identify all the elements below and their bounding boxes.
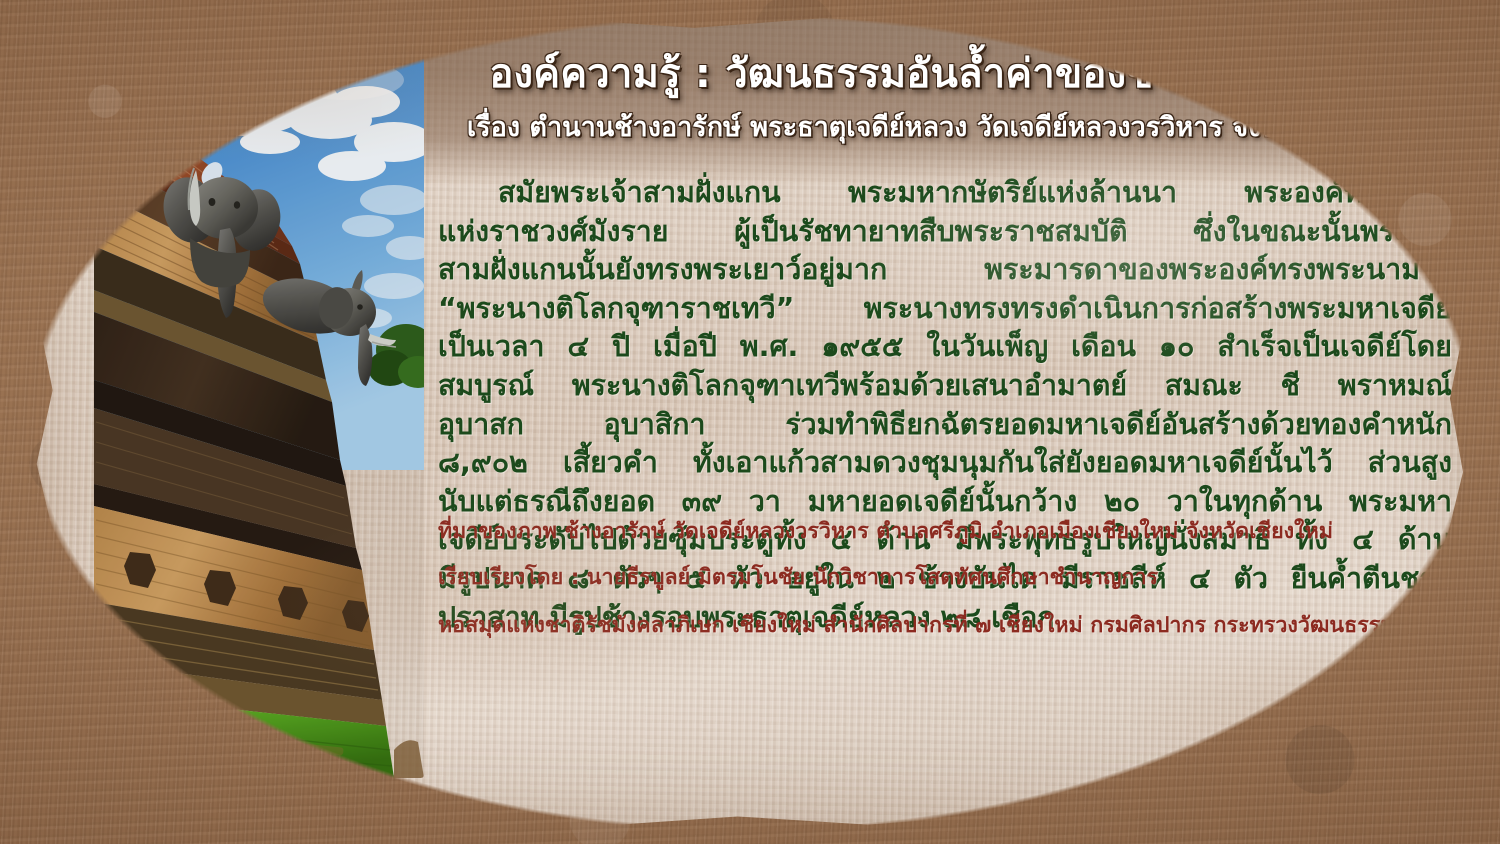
article-footer: ที่มาของภาพ ช้างอารักษ์ วัดเจดีย์หลวงวรว… <box>438 519 1452 638</box>
photo-frame <box>94 50 424 778</box>
compiled-by-credit: เรียบเรียงโดย : นายธีรบูลย์ มิตรมโนชัย น… <box>438 565 1452 591</box>
body-line: นับแต่ธรณีถึงยอด ๓๙ วา มหายอดเจดีย์นั้นก… <box>438 483 1452 522</box>
page-title: องค์ความรู้ : วัฒนธรรมอันล้ำค่าของชาวล้า… <box>432 52 1452 97</box>
body-line: “พระนางติโลกจุฑาราชเทวี” พระนางทรงทรงดำเ… <box>438 290 1452 329</box>
photo-source-credit: ที่มาของภาพ ช้างอารักษ์ วัดเจดีย์หลวงวรว… <box>438 519 1452 545</box>
body-line: อุบาสก อุบาสิกา ร่วมทำพิธียกฉัตรยอดมหาเจ… <box>438 406 1452 445</box>
body-line: ๘,๙๐๒ เสี้ยวคำ ทั้งเอาแก้วสามดวงชุมนุมกั… <box>438 444 1452 483</box>
poster-root: องค์ความรู้ : วัฒนธรรมอันล้ำค่าของชาวล้า… <box>0 0 1500 844</box>
body-line: แห่งราชวงศ์มังราย ผู้เป็นรัชทายาทสืบพระร… <box>438 213 1452 252</box>
photo-illustration <box>94 50 424 778</box>
page-subtitle: เรื่อง ตำนานช้างอารักษ์ พระธาตุเจดีย์หลว… <box>432 112 1452 143</box>
organization-credit: หอสมุดแห่งชาติรัชมังคลาภิเษก เชียงใหม่ ส… <box>438 613 1452 639</box>
body-line: สามฝั่งแกนนั้นยังทรงพระเยาว์อยู่มาก พระม… <box>438 251 1452 290</box>
body-line: เป็นเวลา ๔ ปี เมื่อปี พ.ศ. ๑๙๕๕ ในวันเพ็… <box>438 328 1452 367</box>
body-line: สมัยพระเจ้าสามฝั่งแกน พระมหากษัตริย์แห่ง… <box>438 174 1452 213</box>
paper-sheet: องค์ความรู้ : วัฒนธรรมอันล้ำค่าของชาวล้า… <box>28 14 1476 832</box>
content-column: องค์ความรู้ : วัฒนธรรมอันล้ำค่าของชาวล้า… <box>432 14 1452 832</box>
temple-elephant-photo <box>94 50 424 778</box>
body-line: สมบูรณ์ พระนางติโลกจุฑาเทวีพร้อมด้วยเสนา… <box>438 367 1452 406</box>
